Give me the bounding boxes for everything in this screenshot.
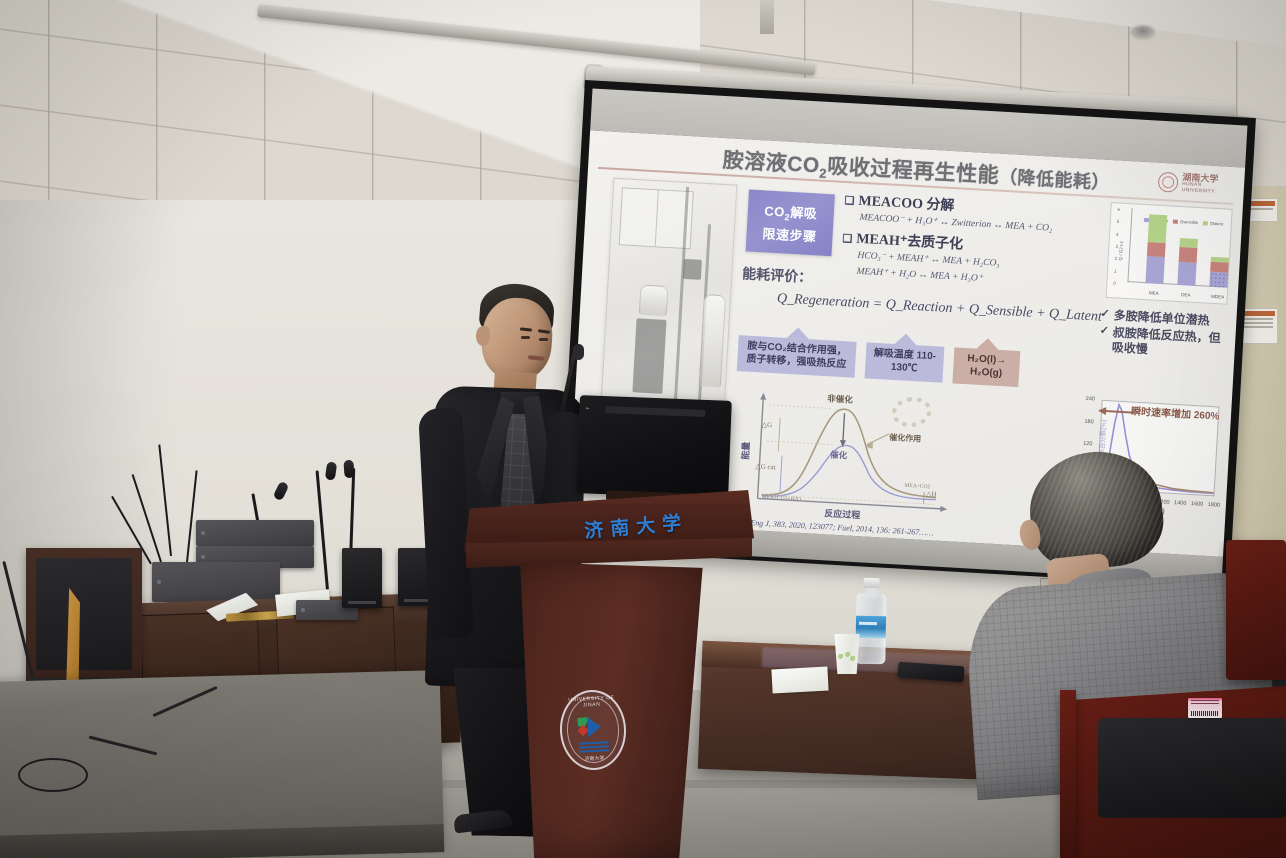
napkin-on-table — [771, 667, 828, 694]
emblem-graphic — [575, 712, 611, 748]
energy-label-dg: △G — [762, 421, 773, 430]
conclusion-checklist: ✓ 多胺降低单位潜热 ✓ 叔胺降低反应热，但吸收慢 — [1098, 308, 1231, 364]
ceiling-mount-bracket — [760, 0, 774, 34]
university-name: 湖南大学 HUNAN UNIVERSITY — [1182, 173, 1233, 196]
energy-label-noncat: 非催化 — [827, 392, 853, 405]
dark-chair-back — [36, 558, 132, 670]
asset-tag — [1188, 698, 1222, 718]
bar-segment — [1179, 247, 1198, 263]
slide-title-main: 胺溶液CO — [722, 149, 820, 177]
heat-duty-bar-chart: Q / GJ t-1 Qreaction Qsensible Qlatent 0… — [1105, 202, 1232, 305]
bar-chart-tick: 2 — [1115, 256, 1118, 261]
bullet-marker-icon: ❑ — [844, 195, 855, 208]
bottle-label — [856, 616, 886, 639]
line-chart-ytick: 240 — [1086, 396, 1096, 403]
desktop-speaker — [342, 548, 382, 608]
line-chart-y-ticks: 060120180240 — [1076, 394, 1224, 402]
monitor-brand-logo: ⌁ — [585, 404, 590, 412]
asset-tag-line — [1191, 700, 1219, 701]
downlight-icon — [1132, 26, 1154, 38]
bar-chart-tick: 4 — [1116, 232, 1119, 237]
rate-limiting-badge: CO2解吸 限速步骤 — [746, 189, 835, 256]
emblem-red-diamond — [577, 725, 588, 736]
water-bottle[interactable] — [855, 578, 886, 665]
bar-chart-tick: 6 — [1117, 207, 1120, 212]
energy-label-catalysis: 催化作用 — [889, 432, 922, 445]
cup-decoration — [838, 652, 856, 662]
photo-vessel — [632, 318, 666, 394]
floor-cable — [18, 758, 88, 792]
callout-arrow-icon — [787, 327, 810, 339]
bar-chart-category: MDEA — [1211, 294, 1224, 300]
check-icon: ✓ — [1100, 308, 1110, 323]
photo-tank — [639, 284, 669, 316]
bar-chart-y-ticks: 0123456 — [1112, 203, 1232, 210]
presenter-eye — [521, 336, 530, 339]
callout-text: 解吸温度 110-130℃ — [874, 348, 937, 374]
asset-tag-barcode — [1191, 711, 1219, 716]
bar-chart-category: MEA — [1149, 290, 1159, 296]
bar-chart-category: DEA — [1181, 292, 1191, 298]
university-logo: 湖南大学 HUNAN UNIVERSITY — [1157, 169, 1232, 199]
bar-segment — [1147, 242, 1166, 257]
auditorium-chair-right[interactable] — [1226, 540, 1286, 680]
bar-chart-ylabel: Q / GJ t-1 — [1118, 241, 1124, 261]
bar-chart-tick: 5 — [1117, 219, 1120, 224]
energy-profile-diagram: 能量 反应过程 — [735, 389, 957, 523]
bar-chart-bar — [1209, 257, 1229, 288]
photo-instrument — [683, 259, 702, 280]
front-table-edge — [0, 824, 444, 858]
callout-text: H₂O(l)→ H₂O(g) — [967, 353, 1006, 379]
bar-chart-tick: 1 — [1114, 268, 1117, 273]
bar-chart-category-labels: MEADEAMDEA — [1112, 203, 1232, 210]
university-name-en: HUNAN UNIVERSITY — [1182, 182, 1233, 195]
emblem-wave-lines — [579, 741, 609, 745]
bar-segment — [1148, 214, 1168, 243]
callout-text: 胺与CO₂结合作用强，质子转移，强吸热反应 — [746, 341, 847, 370]
emblem-green-shape — [577, 717, 589, 727]
university-seal-icon — [1158, 172, 1179, 193]
bar-segment — [1177, 262, 1196, 286]
bar-chart-bar — [1177, 238, 1198, 286]
av-amplifier-unit[interactable] — [152, 562, 280, 602]
podium-emblem: UNIVERSITY OF JINAN 济南大学 — [558, 688, 628, 771]
line-chart-x-ticks: 40060080010001200140016001800 — [1076, 394, 1224, 402]
bar-chart-tick: 3 — [1115, 244, 1118, 249]
line-chart-ytick: 180 — [1084, 418, 1094, 425]
check-text: 叔胺降低反应热，但吸收慢 — [1111, 325, 1229, 362]
badge-line2: 限速步骤 — [762, 224, 817, 246]
callout-box-3: H₂O(l)→ H₂O(g) — [952, 347, 1020, 386]
callout-box-1: 胺与CO₂结合作用强，质子转移，强吸热反应 — [737, 335, 857, 377]
mechanism-bullets: ❑MEACOO 分解 MEACOO⁻ + H₃O⁺ ↔ Zwitterion ↔… — [840, 189, 1105, 296]
bar-chart-bar — [1145, 214, 1167, 284]
podium-microphone-head-icon — [573, 344, 584, 360]
emblem-chevron-icon — [587, 717, 601, 738]
podium-monitor[interactable]: ⌁ — [576, 395, 732, 499]
bar-segment — [1145, 256, 1165, 284]
energy-label-dgcat: △G cat — [755, 462, 776, 471]
callout-arrow-icon — [895, 333, 918, 345]
energy-label-cat: 催化 — [830, 449, 848, 462]
photo-tank — [699, 294, 726, 387]
energy-equation: Q_Regeneration = Q_Reaction + Q_Sensible… — [776, 291, 1102, 325]
callout-box-2: 解吸温度 110-130℃ — [865, 342, 945, 382]
badge-line1: CO2解吸 — [764, 200, 818, 224]
microphone-head-icon — [343, 460, 354, 479]
auditorium-chair-armrest[interactable] — [1060, 690, 1076, 858]
check-icon: ✓ — [1098, 325, 1109, 355]
bullet-marker-icon: ❑ — [842, 233, 853, 246]
check-item: ✓ 叔胺降低反应热，但吸收慢 — [1098, 325, 1229, 362]
callout-arrow-icon — [976, 338, 999, 350]
bar-chart-tick: 0 — [1113, 281, 1116, 286]
energy-label-dh: △H — [926, 490, 937, 499]
slide-title-paren: （降低能耗） — [998, 167, 1110, 193]
bar-chart-plot — [1129, 210, 1225, 287]
monitor-vent — [605, 406, 705, 417]
line-chart-ytick: 120 — [1083, 441, 1093, 448]
bottle-cap — [864, 578, 880, 588]
asset-tag-line — [1191, 703, 1219, 704]
bar-segment — [1209, 272, 1228, 288]
emblem-text-en: UNIVERSITY OF JINAN — [560, 694, 623, 709]
auditorium-chair-seat — [1098, 718, 1286, 818]
conference-room-scene: 胺溶液CO2吸收过程再生性能（降低能耗） 湖南大学 HUNAN UNIVERSI… — [0, 0, 1286, 858]
presenter-eye — [539, 338, 548, 341]
av-receiver-unit[interactable] — [196, 520, 314, 546]
presenter-ear — [476, 326, 490, 346]
energy-eval-label: 能耗评价： — [742, 263, 813, 287]
